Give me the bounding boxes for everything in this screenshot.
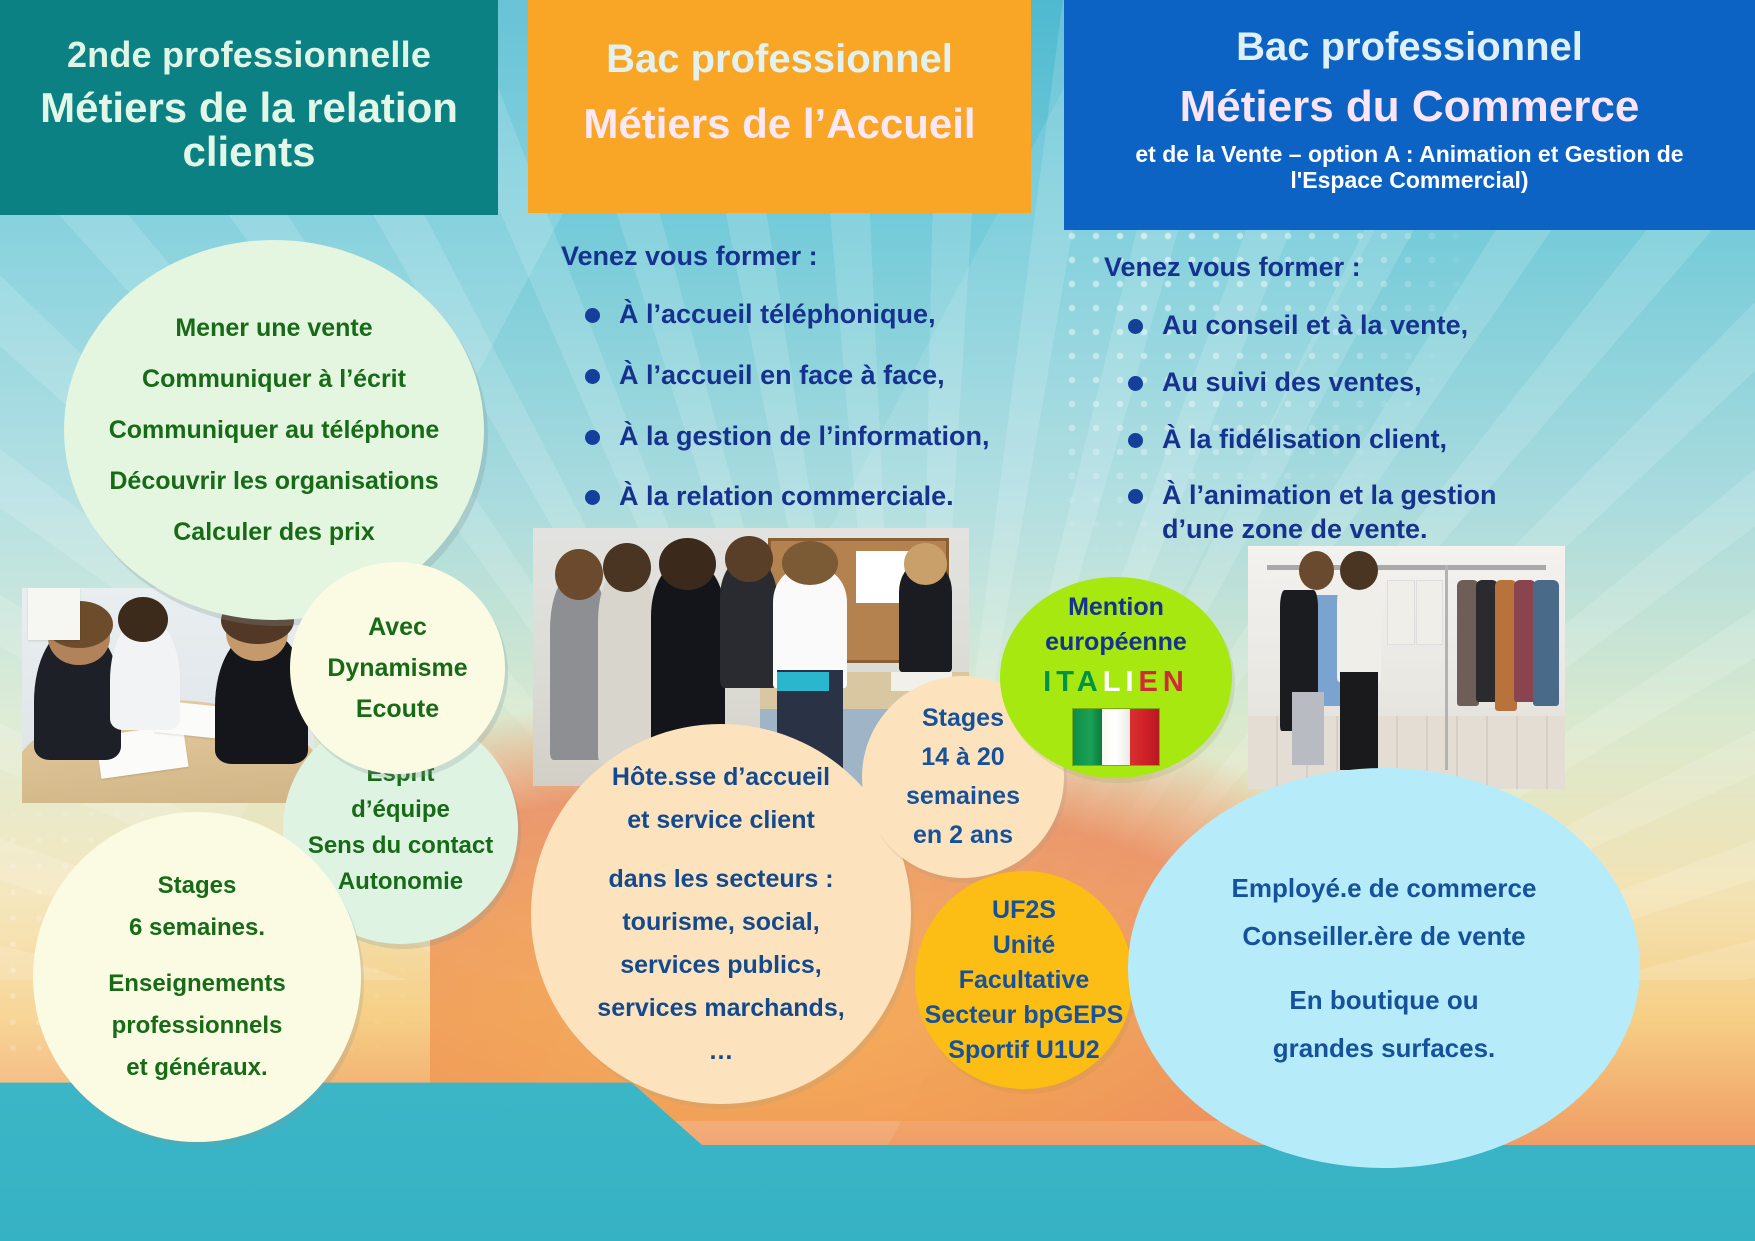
list-item: À la gestion de l’information, [561,420,1031,454]
banner-1-line1: 2nde professionnelle [0,36,498,74]
right-column-text: Venez vous former : Au conseil et à la v… [1104,252,1624,570]
list-item: À l’accueil en face à face, [561,359,1031,393]
mid-column-text: Venez vous former : À l’accueil téléphon… [561,241,1031,541]
banner-3-line1: Bac professionnel [1064,26,1755,68]
right-bullet-1: Au conseil et à la vente, [1162,309,1468,343]
hotesse-line-5: services publics, [620,953,822,978]
banner-bac-pro-commerce: Bac professionnel Métiers du Commerce et… [1064,0,1755,230]
bullet-dot-icon [1128,433,1143,448]
stages-left-line-2: 6 semaines. [129,916,265,940]
banner-2-line2: Métiers de l’Accueil [528,102,1031,147]
italy-flag-icon [1072,708,1160,766]
banner-1-line2: Métiers de la relation clients [0,86,498,175]
bullet-dot-icon [585,369,600,384]
right-intro: Venez vous former : [1104,252,1624,283]
esprit-line-3: Sens du contact [308,834,493,858]
banner-3-line2: Métiers du Commerce [1064,84,1755,131]
list-item: À l’animation et la gestion d’une zone d… [1104,479,1624,547]
stages-mid-line-2: 14 à 20 [921,745,1004,770]
uf2s-line-2: Unité [993,933,1056,958]
bubble-mention-europeenne: Mention européenne ITALIEN [1000,577,1232,778]
banner-3-line3: et de la Vente – option A : Animation et… [1064,141,1755,193]
employe-line-4: grandes surfaces. [1273,1035,1496,1061]
uf2s-line-1: UF2S [992,898,1056,923]
avec-line-3: Ecoute [356,697,439,722]
italien-letter: N [1163,666,1189,698]
skill-2: Communiquer à l’écrit [142,367,406,392]
mention-language-italien: ITALIEN [1043,666,1189,699]
employe-line-1: Employé.e de commerce [1232,875,1537,901]
list-item: Au suivi des ventes, [1104,366,1624,400]
hotesse-line-3: dans les secteurs : [608,867,833,892]
mid-bullet-2: À l’accueil en face à face, [619,359,945,393]
list-item: Au conseil et à la vente, [1104,309,1624,343]
stages-mid-line-1: Stages [922,706,1004,731]
bubble-competences: Mener une vente Communiquer à l’écrit Co… [64,240,484,620]
avec-line-1: Avec [368,615,427,640]
stages-left-line-3: Enseignements [108,972,285,996]
stages-left-line-1: Stages [158,874,237,898]
hotesse-line-6: services marchands, [597,996,844,1021]
skill-3: Communiquer au téléphone [109,418,440,443]
italien-letter: E [1139,666,1163,698]
bubble-hotesse-accueil: Hôte.sse d’accueil et service client dan… [531,724,911,1104]
bubble-employe-commerce: Employé.e de commerce Conseiller.ère de … [1128,768,1640,1168]
bullet-dot-icon [585,308,600,323]
banner-bac-pro-accueil: Bac professionnel Métiers de l’Accueil [528,0,1031,213]
right-bullet-4: À l’animation et la gestion d’une zone d… [1162,479,1542,547]
skill-1: Mener une vente [175,316,372,341]
right-bullet-3: À la fidélisation client, [1162,423,1447,457]
esprit-line-2: d’équipe [351,798,450,822]
bubble-stages-seconde: Stages 6 semaines. Enseignements profess… [33,812,361,1142]
skill-4: Découvrir les organisations [109,469,438,494]
bubble-avec-qualites: Avec Dynamisme Ecoute [290,562,505,774]
hotesse-line-2: et service client [627,808,815,833]
photo-boutique [1248,546,1565,789]
bullet-dot-icon [585,430,600,445]
mid-intro: Venez vous former : [561,241,1031,272]
list-item: À la relation commerciale. [561,480,1031,514]
hotesse-line-4: tourisme, social, [622,910,819,935]
bullet-dot-icon [1128,489,1143,504]
uf2s-line-5: Sportif U1U2 [948,1038,1099,1063]
bullet-dot-icon [1128,376,1143,391]
employe-line-2: Conseiller.ère de vente [1242,923,1525,949]
uf2s-line-4: Secteur bpGEPS [925,1003,1124,1028]
hotesse-line-7: … [709,1039,734,1064]
stages-mid-line-4: en 2 ans [913,823,1013,848]
photo-students-at-table [22,588,314,803]
right-bullet-list: Au conseil et à la vente, Au suivi des v… [1104,309,1624,547]
uf2s-line-3: Facultative [959,968,1090,993]
italien-letter: T [1056,666,1077,698]
hotesse-line-1: Hôte.sse d’accueil [612,765,830,790]
employe-line-3: En boutique ou [1289,987,1478,1013]
banner-2-line1: Bac professionnel [528,38,1031,80]
italien-letter: I [1125,666,1138,698]
stages-left-line-4: professionnels [112,1014,283,1038]
avec-line-2: Dynamisme [327,656,467,681]
italien-letter: I [1043,666,1056,698]
mid-bullet-list: À l’accueil téléphonique, À l’accueil en… [561,298,1031,514]
italien-letter: A [1077,666,1103,698]
italien-letter: L [1103,666,1126,698]
skill-5: Calculer des prix [173,520,374,545]
mention-line-1: Mention [1068,595,1164,620]
mid-bullet-4: À la relation commerciale. [619,480,954,514]
list-item: À l’accueil téléphonique, [561,298,1031,332]
banner-seconde-professionnelle: 2nde professionnelle Métiers de la relat… [0,0,498,215]
bullet-dot-icon [1128,319,1143,334]
mid-bullet-3: À la gestion de l’information, [619,420,990,454]
poster-canvas: 2nde professionnelle Métiers de la relat… [0,0,1755,1241]
stages-left-line-5: et généraux. [126,1056,267,1080]
bubble-uf2s: UF2S Unité Facultative Secteur bpGEPS Sp… [915,871,1133,1089]
list-item: À la fidélisation client, [1104,423,1624,457]
mid-bullet-1: À l’accueil téléphonique, [619,298,936,332]
esprit-line-4: Autonomie [338,870,463,894]
bullet-dot-icon [585,490,600,505]
right-bullet-2: Au suivi des ventes, [1162,366,1422,400]
mention-line-2: européenne [1045,630,1187,655]
stages-mid-line-3: semaines [906,784,1020,809]
